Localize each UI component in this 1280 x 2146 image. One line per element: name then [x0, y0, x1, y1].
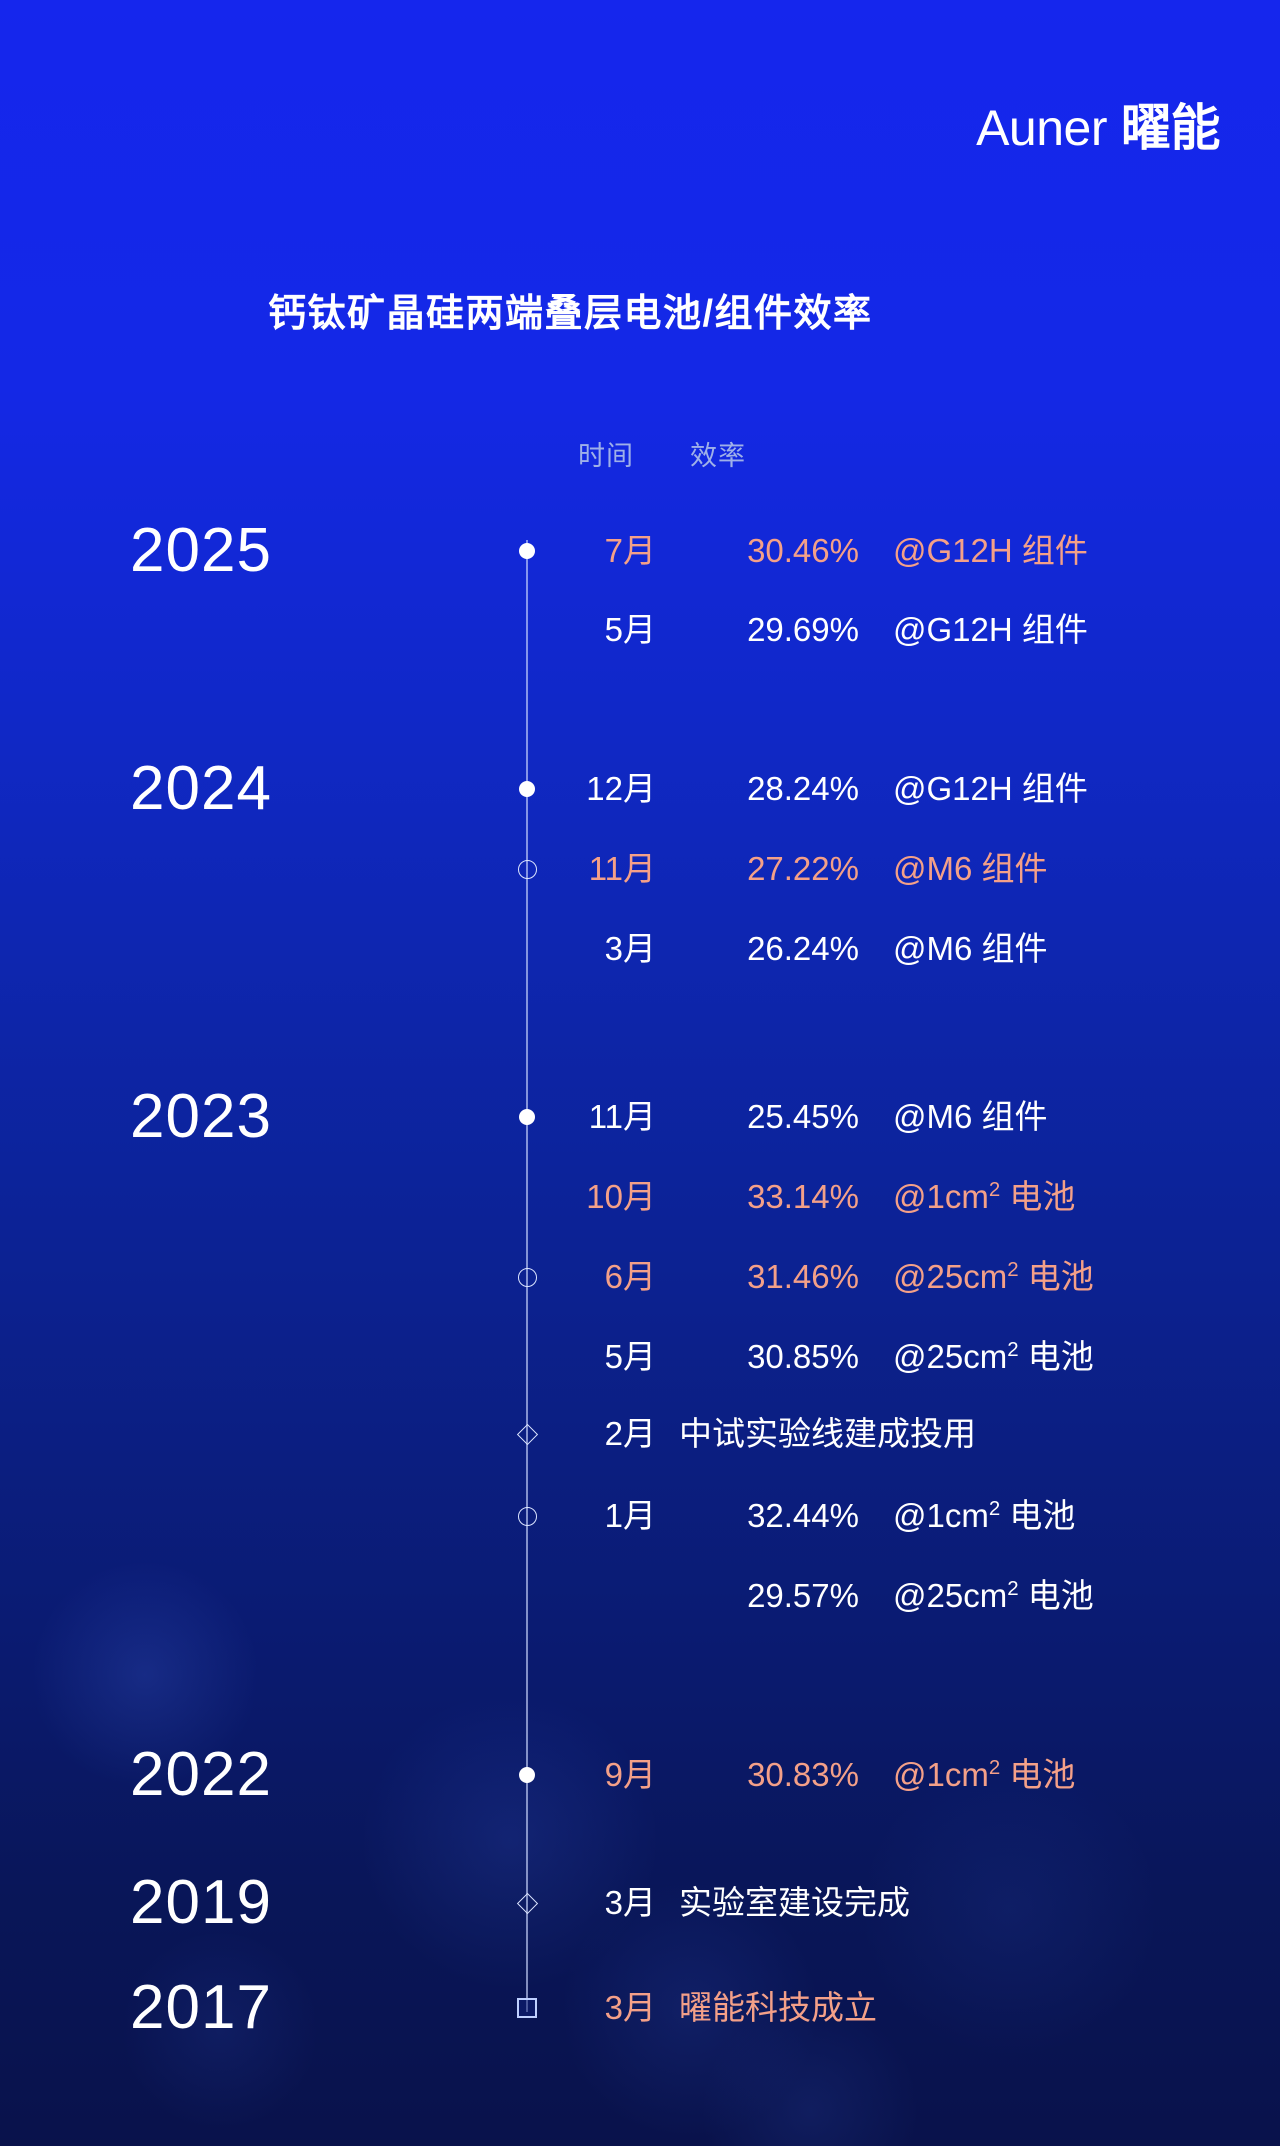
brand-name-en: Auner	[976, 100, 1107, 156]
poster-canvas: Auner曜能 钙钛矿晶硅两端叠层电池/组件效率 时间 效率 20257月30.…	[0, 0, 1280, 2146]
timeline-note: @G12H 组件	[893, 534, 1088, 567]
timeline-note: @25cm2 电池	[893, 1260, 1094, 1293]
timeline-efficiency: 26.24%	[559, 932, 859, 965]
timeline-efficiency: 33.14%	[559, 1180, 859, 1213]
timeline-note: @M6 组件	[893, 1100, 1048, 1133]
timeline-month: 2月	[356, 1417, 656, 1450]
timeline-efficiency: 25.45%	[559, 1100, 859, 1133]
timeline-year-2017: 2017	[130, 1977, 272, 2039]
timeline-efficiency: 28.24%	[559, 772, 859, 805]
timeline-efficiency: 30.83%	[559, 1758, 859, 1791]
timeline-year-2023: 2023	[130, 1086, 272, 1148]
timeline-note: @25cm2 电池	[893, 1579, 1094, 1612]
timeline-note: @1cm2 电池	[893, 1758, 1075, 1791]
timeline-year-2022: 2022	[130, 1744, 272, 1806]
timeline-event: 曜能科技成立	[679, 1991, 877, 2024]
timeline-efficiency: 29.69%	[559, 613, 859, 646]
timeline-year-2025: 2025	[130, 520, 272, 582]
page-title: 钙钛矿晶硅两端叠层电池/组件效率	[268, 282, 873, 337]
timeline-month: 3月	[356, 1886, 656, 1919]
timeline-note: @1cm2 电池	[893, 1499, 1075, 1532]
timeline-note: @1cm2 电池	[893, 1180, 1075, 1213]
timeline-efficiency: 30.46%	[559, 534, 859, 567]
background-glow	[360, 1690, 660, 1990]
column-header-efficiency: 效率	[690, 434, 746, 473]
timeline-efficiency: 29.57%	[559, 1579, 859, 1612]
timeline-event: 实验室建设完成	[679, 1886, 910, 1919]
timeline-efficiency: 31.46%	[559, 1260, 859, 1293]
timeline-efficiency: 27.22%	[559, 852, 859, 885]
column-header-time: 时间	[578, 434, 634, 473]
timeline-note: @G12H 组件	[893, 613, 1088, 646]
timeline-note: @G12H 组件	[893, 772, 1088, 805]
timeline-event: 中试实验线建成投用	[679, 1417, 976, 1450]
timeline-efficiency: 32.44%	[559, 1499, 859, 1532]
timeline-efficiency: 30.85%	[559, 1340, 859, 1373]
timeline-month: 3月	[356, 1991, 656, 2024]
timeline-note: @M6 组件	[893, 932, 1048, 965]
brand-logo: Auner曜能	[976, 88, 1220, 160]
timeline-note: @25cm2 电池	[893, 1340, 1094, 1373]
timeline-year-2019: 2019	[130, 1872, 272, 1934]
timeline-year-2024: 2024	[130, 758, 272, 820]
brand-name-cn: 曜能	[1121, 100, 1220, 156]
timeline-note: @M6 组件	[893, 852, 1048, 885]
